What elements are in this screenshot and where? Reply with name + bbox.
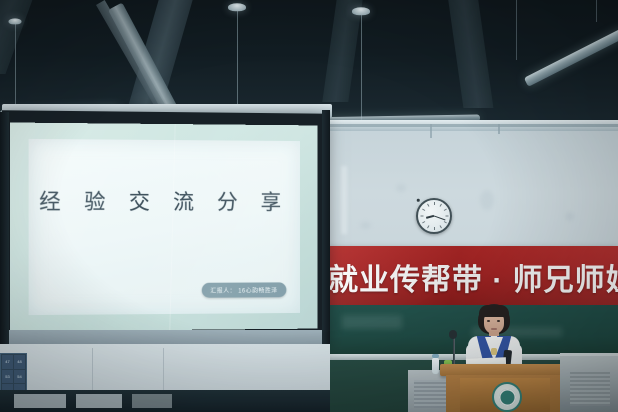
slide-title: 经 验 交 流 分 享 bbox=[29, 185, 300, 216]
microphone-icon bbox=[449, 330, 457, 339]
presentation-slide: 经 验 交 流 分 享 汇报人： 16心韵畅胜泽 bbox=[29, 139, 300, 315]
foreground-dark-strip bbox=[0, 390, 330, 412]
seat-cell: 54 bbox=[14, 370, 25, 384]
presenter-badge bbox=[491, 348, 497, 355]
wall-clock bbox=[416, 198, 452, 234]
lecture-hall-photo: 就业传帮带 · 师兄师姐面对面 经 验 交 流 分 享 汇报人： 16心韵畅胜泽… bbox=[0, 0, 618, 412]
projection-screen: 经 验 交 流 分 享 汇报人： 16心韵畅胜泽 bbox=[10, 123, 317, 332]
wall-conduit bbox=[300, 124, 618, 127]
pendant-light bbox=[352, 12, 370, 130]
water-bottle bbox=[432, 358, 439, 374]
presenter-fringe bbox=[479, 305, 509, 317]
wall-blotch bbox=[360, 222, 371, 229]
wall-smudge bbox=[341, 166, 347, 234]
podium bbox=[440, 364, 570, 412]
cabinet-grill bbox=[570, 372, 610, 406]
slide-presenter-badge: 汇报人： 16心韵畅胜泽 bbox=[201, 282, 286, 297]
seat-cell: 53 bbox=[2, 370, 13, 384]
pendant-rod bbox=[361, 12, 362, 130]
screen-left-edge bbox=[0, 112, 9, 348]
seat-cell: 48 bbox=[14, 355, 25, 369]
wall-conduit bbox=[430, 124, 432, 138]
presenter-mouth bbox=[491, 328, 497, 330]
light-suspension-wire bbox=[516, 0, 517, 60]
university-emblem-icon bbox=[492, 382, 522, 412]
wall-conduit bbox=[498, 124, 500, 134]
ceiling-beam bbox=[447, 0, 494, 108]
seat-cell: 47 bbox=[2, 355, 13, 369]
pendant-dome-icon bbox=[228, 3, 246, 11]
water-bottle-cap bbox=[432, 354, 439, 358]
wall-blotch bbox=[480, 190, 494, 210]
clock-center-pin bbox=[417, 199, 420, 202]
pendant-dome-icon bbox=[352, 7, 370, 15]
wall-blotch bbox=[396, 184, 406, 192]
screen-right-edge bbox=[322, 110, 330, 348]
banner-fold-shading bbox=[322, 246, 618, 308]
clock-minute-hand bbox=[434, 215, 446, 220]
wall-blotch bbox=[565, 212, 574, 221]
event-banner: 就业传帮带 · 师兄师姐面对面 bbox=[322, 246, 618, 308]
light-suspension-wire bbox=[596, 0, 597, 22]
pendant-dome-icon bbox=[9, 18, 22, 24]
